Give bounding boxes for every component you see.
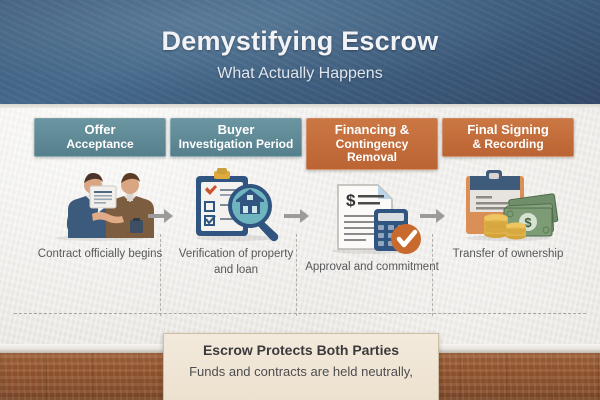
clipboard-magnifier-house-icon bbox=[168, 165, 304, 243]
step-caption-2: Verification of property and loan bbox=[168, 247, 304, 278]
page-subtitle: What Actually Happens bbox=[0, 65, 600, 83]
step-header-3: Financing & Contingency Removal bbox=[306, 118, 438, 170]
page-title: Demystifying Escrow bbox=[0, 26, 600, 57]
infographic-poster: Demystifying Escrow What Actually Happen… bbox=[0, 0, 600, 400]
section-divider bbox=[14, 313, 586, 314]
step-card-3[interactable]: Financing & Contingency Removal $ bbox=[304, 118, 440, 276]
step-title-line1: Buyer bbox=[173, 123, 299, 138]
step-title-line1: Financing & bbox=[309, 123, 435, 138]
step-title-line2: Acceptance bbox=[37, 138, 163, 151]
step-caption-3: Approval and commitment bbox=[304, 260, 440, 276]
folder-money-icon: $ bbox=[440, 165, 576, 243]
arrow-right-icon bbox=[284, 208, 310, 224]
banner-text: Funds and contracts are held neutrally, bbox=[164, 364, 438, 381]
step-title-line2: Investigation Period bbox=[173, 138, 299, 151]
step-title-line2: & Recording bbox=[445, 138, 571, 151]
arrow-right-icon bbox=[420, 208, 446, 224]
steps-row: Offer Acceptance bbox=[0, 118, 600, 313]
step-header-2: Buyer Investigation Period bbox=[170, 118, 302, 157]
step-title-line1: Final Signing bbox=[445, 123, 571, 138]
banner-title: Escrow Protects Both Parties bbox=[164, 342, 438, 358]
step-title-line2: Contingency Removal bbox=[309, 138, 435, 165]
arrow-right-icon bbox=[148, 208, 174, 224]
summary-banner: Escrow Protects Both Parties Funds and c… bbox=[163, 333, 439, 400]
step-card-2[interactable]: Buyer Investigation Period bbox=[168, 118, 304, 278]
step-header-1: Offer Acceptance bbox=[34, 118, 166, 157]
handshake-icon bbox=[32, 165, 168, 243]
step-caption-1: Contract officially begins bbox=[32, 247, 168, 263]
step-card-1[interactable]: Offer Acceptance bbox=[32, 118, 168, 263]
step-caption-4: Transfer of ownership bbox=[440, 247, 576, 263]
step-title-line1: Offer bbox=[37, 123, 163, 138]
svg-text:$: $ bbox=[346, 191, 356, 210]
step-header-4: Final Signing & Recording bbox=[442, 118, 574, 157]
step-card-4[interactable]: Final Signing & Recording bbox=[440, 118, 576, 263]
header-divider bbox=[0, 104, 600, 108]
